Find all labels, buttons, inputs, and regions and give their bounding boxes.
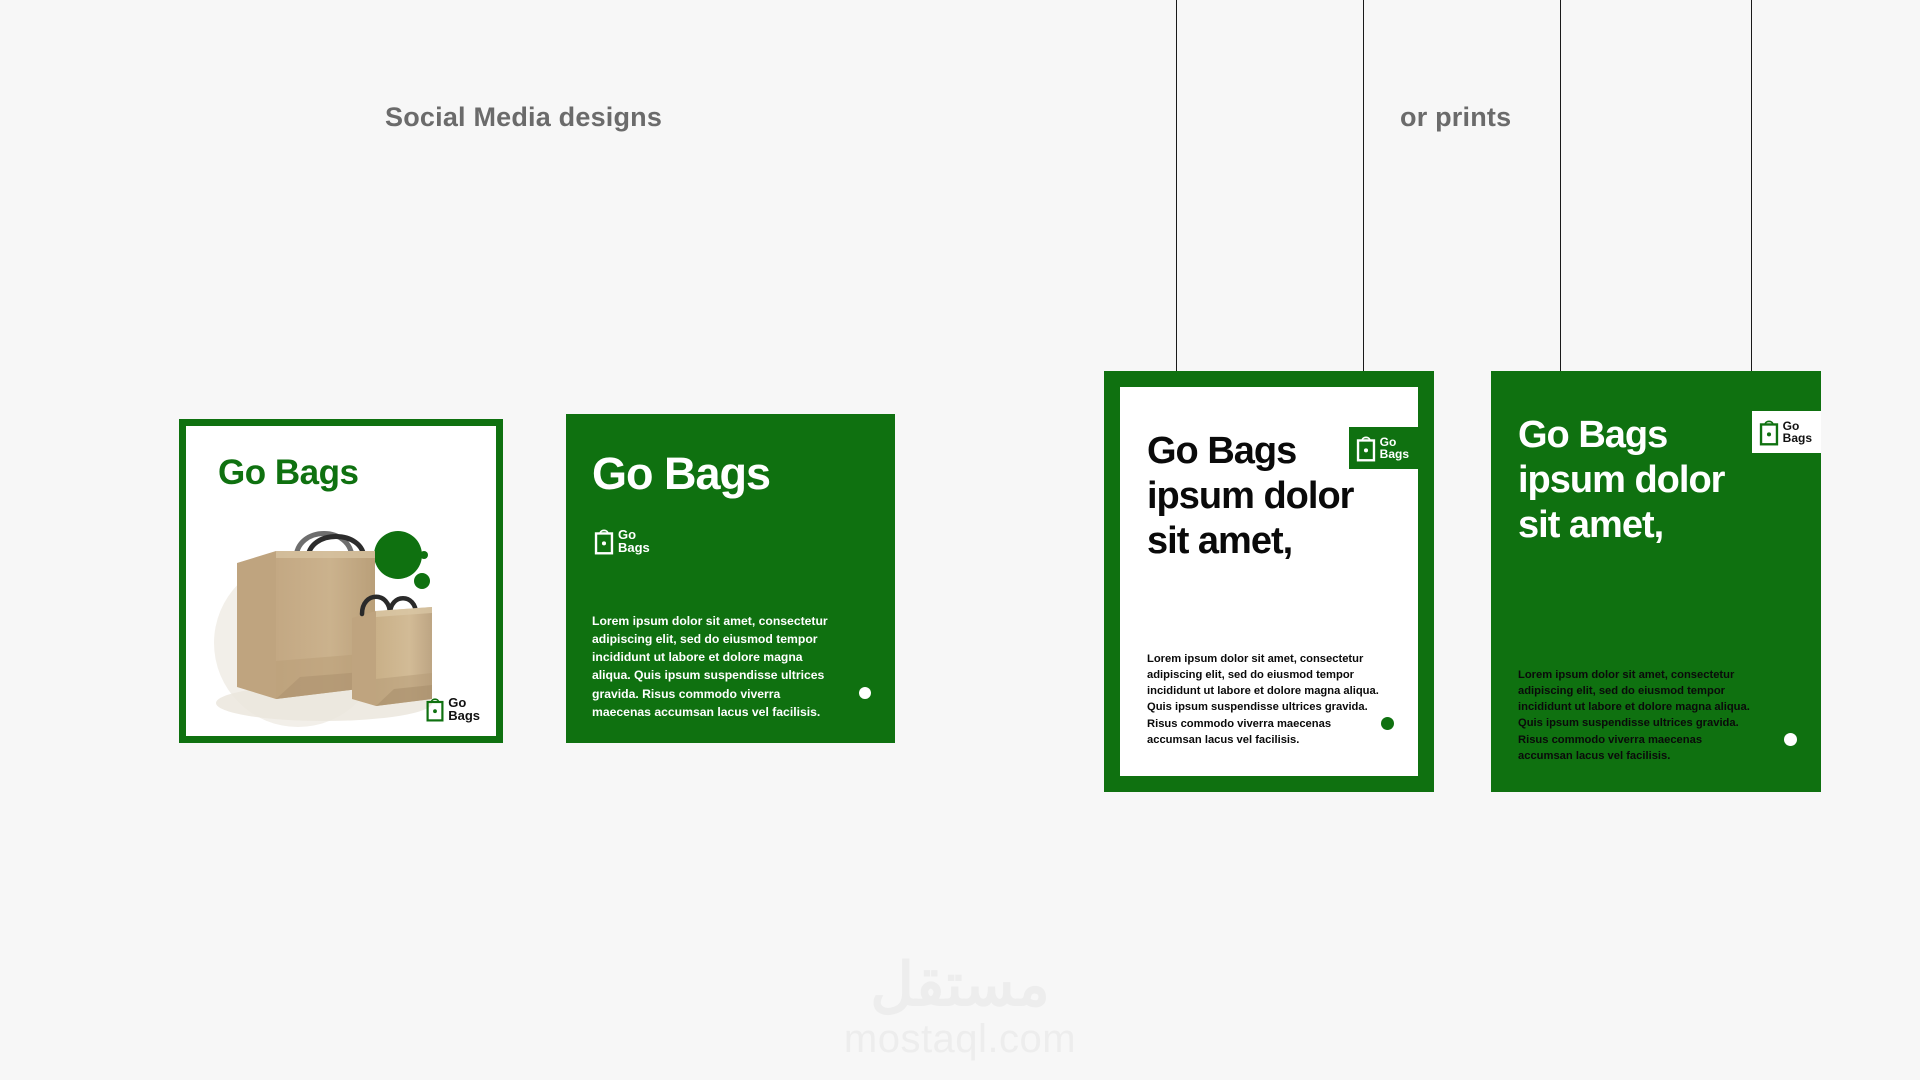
brand-logo-badge: Go Bags — [1349, 427, 1418, 469]
logo-line-2: Bags — [448, 709, 480, 722]
section-title-prints: or prints — [1400, 102, 1511, 133]
accent-dot — [859, 687, 871, 699]
accent-dot — [1784, 733, 1797, 746]
mostaql-watermark: مستقل mostaql.com — [0, 955, 1920, 1061]
watermark-arabic: مستقل — [0, 955, 1920, 1015]
go-bags-bag-icon — [1759, 418, 1779, 446]
print-card-white[interactable]: Go Bags ipsum dolor sit amet, Go Bags Lo… — [1104, 371, 1434, 792]
hanging-string-2 — [1363, 0, 1364, 385]
logo-line-2: Bags — [1380, 448, 1409, 460]
print-card-inner: Go Bags ipsum dolor sit amet, Go Bags Lo… — [1120, 387, 1418, 776]
logo-line-1: Go — [618, 528, 650, 541]
print-card-green[interactable]: Go Bags ipsum dolor sit amet, Go Bags Lo… — [1491, 371, 1821, 792]
logo-wordmark: Go Bags — [1783, 420, 1812, 444]
hanging-string-3 — [1560, 0, 1561, 385]
watermark-latin: mostaql.com — [0, 1017, 1920, 1061]
card-body-text: Lorem ipsum dolor sit amet, consectetur … — [1147, 651, 1379, 748]
presentation-canvas: Social Media designs or prints Go Bags — [0, 0, 1920, 1080]
brand-logo: Go Bags — [426, 696, 480, 723]
logo-line-2: Bags — [1783, 432, 1812, 444]
brand-logo: Go Bags — [594, 527, 650, 555]
hanging-string-4 — [1751, 0, 1752, 385]
card-heading: Go Bags — [592, 448, 770, 500]
logo-line-1: Go — [448, 696, 480, 709]
hanging-string-1 — [1176, 0, 1177, 385]
shopping-bags-svg — [204, 501, 474, 726]
logo-wordmark: Go Bags — [618, 528, 650, 555]
go-bags-bag-icon — [594, 527, 614, 555]
card-body-text: Lorem ipsum dolor sit amet, consectetur … — [1518, 667, 1754, 764]
card-heading: Go Bags ipsum dolor sit amet, — [1518, 413, 1744, 549]
social-card-green[interactable]: Go Bags Go Bags Lorem ipsum dolor sit am… — [566, 414, 895, 743]
brand-logo-badge: Go Bags — [1752, 411, 1821, 453]
go-bags-bag-icon — [426, 696, 444, 722]
card-heading: Go Bags ipsum dolor sit amet, — [1147, 429, 1369, 565]
accent-dot — [1381, 717, 1394, 730]
paper-shopping-bags-illustration — [204, 501, 474, 726]
logo-wordmark: Go Bags — [1380, 436, 1409, 460]
social-card-white[interactable]: Go Bags — [179, 419, 503, 743]
card-body-text: Lorem ipsum dolor sit amet, consectetur … — [592, 612, 840, 721]
card-heading: Go Bags — [218, 453, 358, 493]
logo-wordmark: Go Bags — [448, 696, 480, 723]
logo-line-2: Bags — [618, 541, 650, 554]
section-title-social-media: Social Media designs — [385, 102, 662, 133]
go-bags-bag-icon — [1356, 434, 1376, 462]
